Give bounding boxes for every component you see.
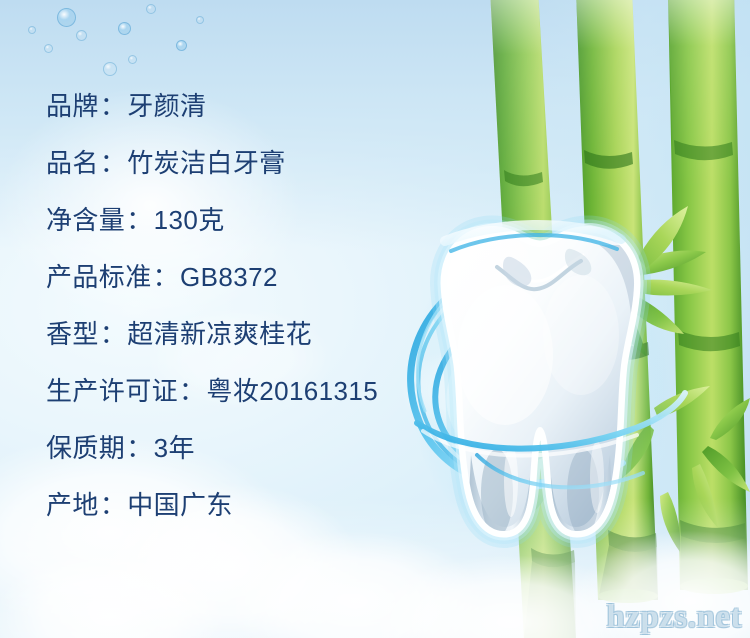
spec-value: 3年 [154,433,195,463]
spec-row-product-name: 品名：竹炭洁白牙膏 [46,135,446,192]
spec-separator: ： [99,148,127,178]
water-bubble-icon [28,26,36,34]
spec-separator: ： [99,91,127,121]
spec-row-origin: 产地：中国广东 [46,477,446,534]
water-bubble-icon [44,44,53,53]
spec-row-product-standard: 产品标准：GB8372 [46,249,446,306]
spec-value: GB8372 [180,262,278,292]
spec-separator: ： [125,433,153,463]
spec-label: 净含量 [46,205,125,235]
water-bubble-icon [76,30,87,41]
spec-separator: ： [125,205,153,235]
spec-separator: ： [99,319,127,349]
water-bubble-icon [118,22,131,35]
spec-row-brand: 品牌：牙颜清 [46,78,446,135]
spec-separator: ： [178,376,206,406]
spec-label: 生产许可证 [46,376,178,406]
spec-value: 竹炭洁白牙膏 [127,148,285,178]
watermark: hzpzs.net [606,599,742,636]
water-bubble-icon [103,62,117,76]
spec-value: 粤妆20161315 [206,376,378,406]
spec-row-fragrance: 香型：超清新凉爽桂花 [46,306,446,363]
water-bubble-icon [146,4,156,14]
product-spec-list: 品牌：牙颜清 品名：竹炭洁白牙膏 净含量：130克 产品标准：GB8372 香型… [46,78,446,534]
product-spec-banner: 品牌：牙颜清 品名：竹炭洁白牙膏 净含量：130克 产品标准：GB8372 香型… [0,0,750,638]
spec-label: 品名 [46,148,99,178]
spec-label: 产品标准 [46,262,152,292]
spec-row-production-license: 生产许可证：粤妆20161315 [46,363,446,420]
spec-row-net-content: 净含量：130克 [46,192,446,249]
water-bubble-icon [176,40,187,51]
water-bubble-icon [128,55,137,64]
spec-value: 牙颜清 [127,91,206,121]
water-bubble-icon [57,8,76,27]
spec-label: 品牌 [46,91,99,121]
spec-row-shelf-life: 保质期：3年 [46,420,446,477]
spec-separator: ： [99,490,127,520]
spec-value: 超清新凉爽桂花 [127,319,312,349]
spec-label: 保质期 [46,433,125,463]
spec-value: 130克 [154,205,225,235]
spec-separator: ： [152,262,180,292]
water-bubble-icon [196,16,204,24]
spec-label: 产地 [46,490,99,520]
spec-value: 中国广东 [127,490,233,520]
spec-label: 香型 [46,319,99,349]
